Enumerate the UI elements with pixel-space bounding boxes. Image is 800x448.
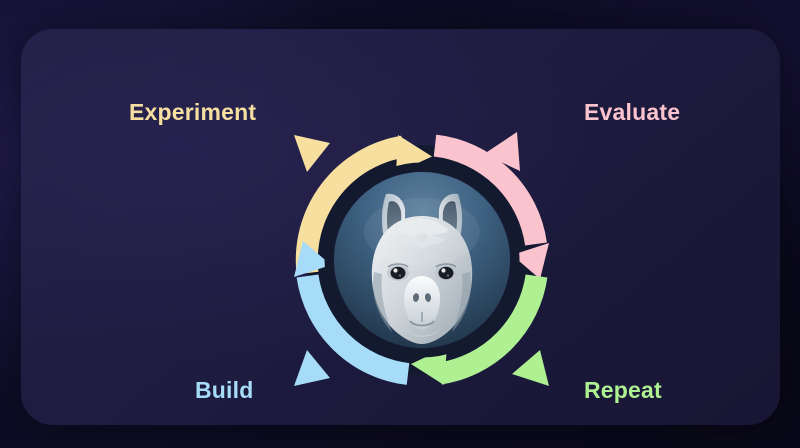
cycle-diagram bbox=[272, 110, 572, 410]
llama-head-icon bbox=[334, 172, 510, 348]
llama-illustration bbox=[334, 172, 510, 348]
cycle-label-evaluate: Evaluate bbox=[584, 99, 680, 126]
cycle-label-build: Build bbox=[195, 377, 254, 404]
screenshot-canvas: Experiment Evaluate Build Repeat bbox=[0, 0, 800, 448]
cycle-label-experiment: Experiment bbox=[129, 99, 256, 126]
diagram-panel: Experiment Evaluate Build Repeat bbox=[21, 29, 780, 425]
cycle-label-repeat: Repeat bbox=[584, 377, 662, 404]
